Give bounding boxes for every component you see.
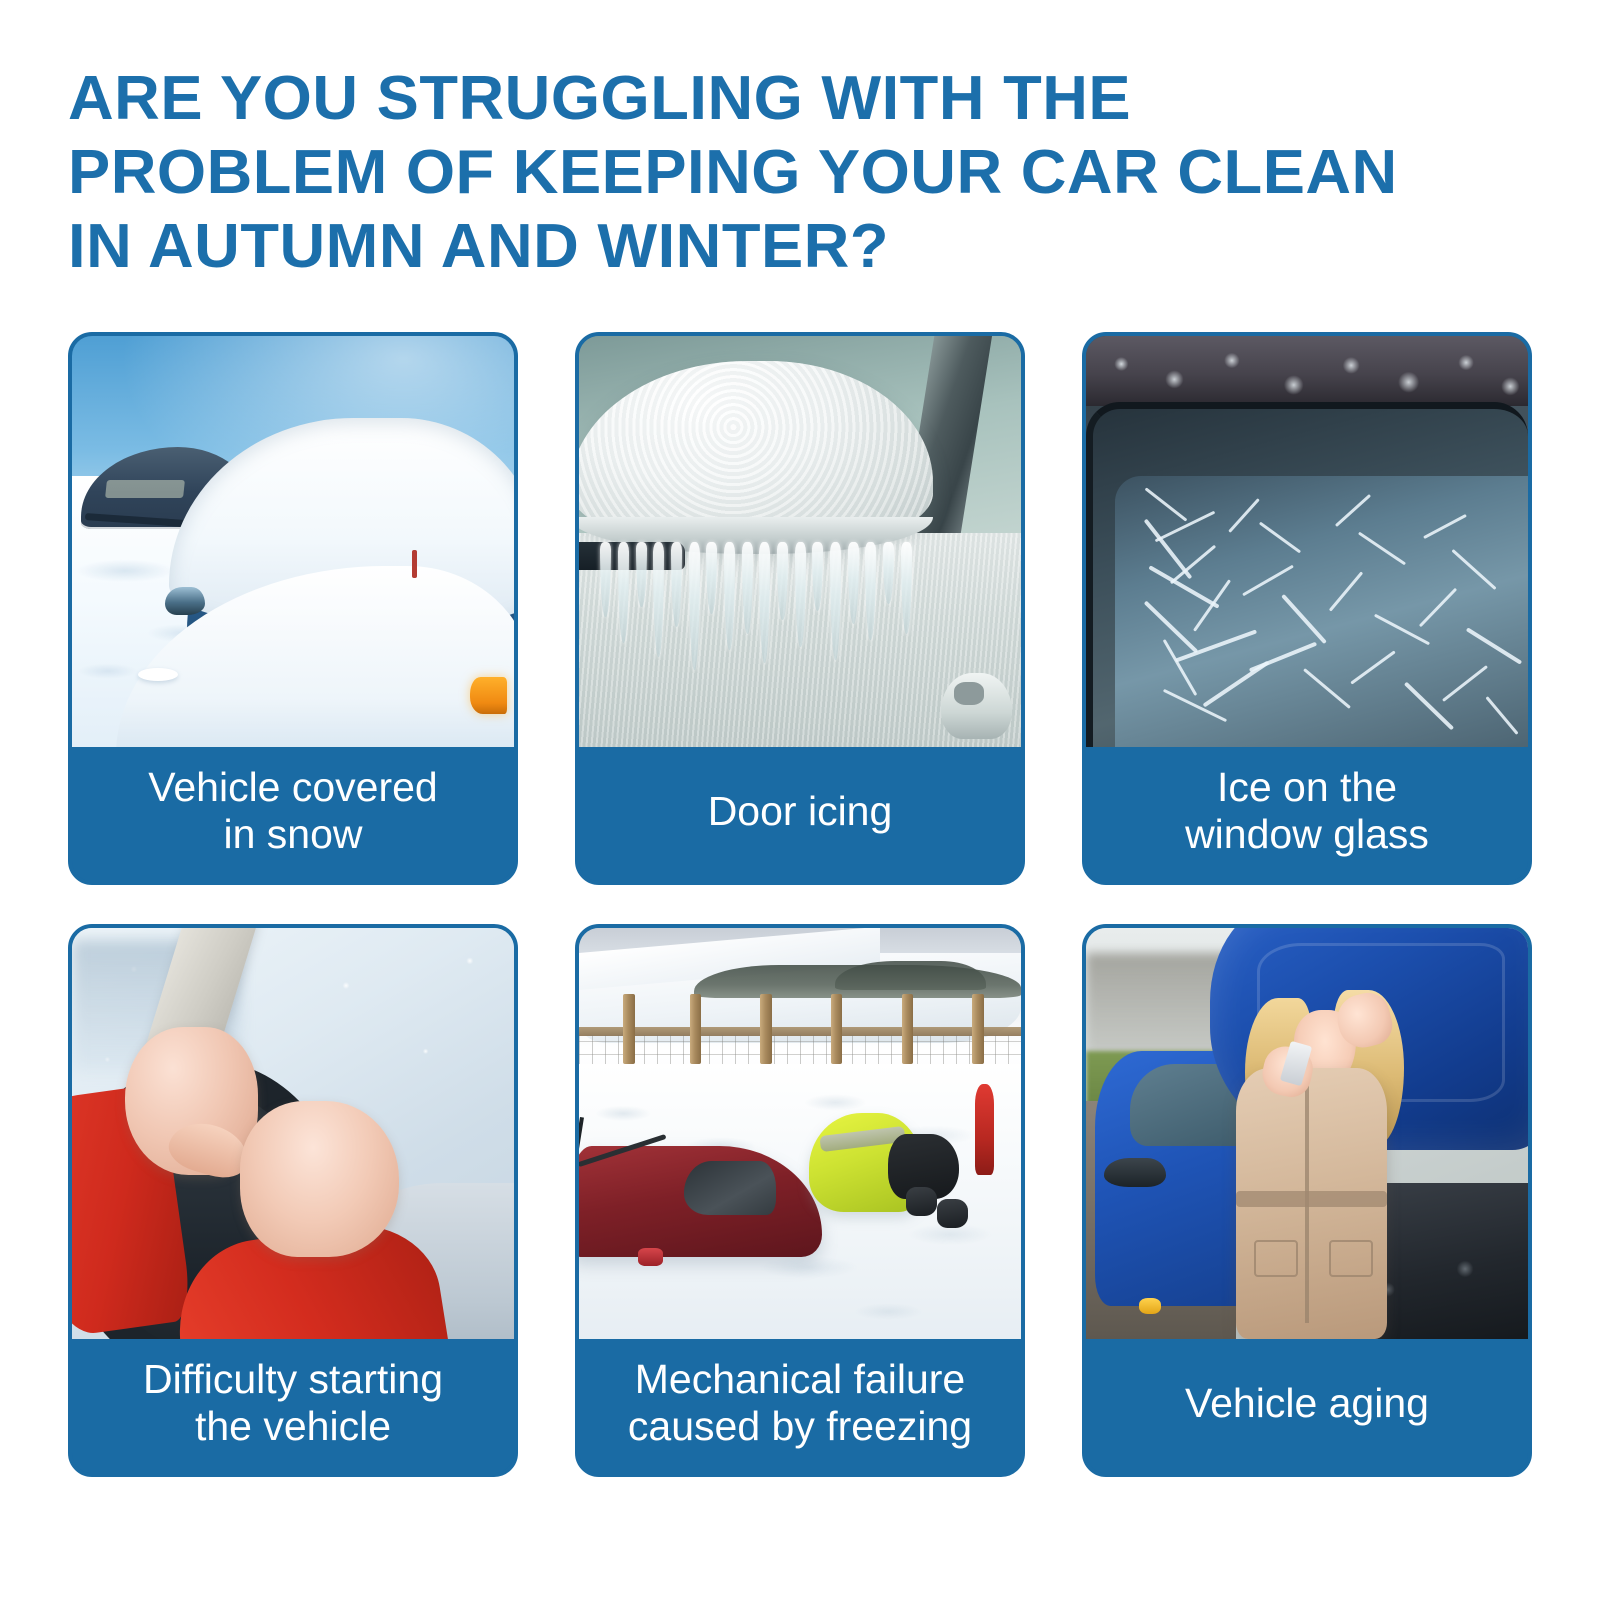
- card-caption: Ice on the window glass: [1086, 747, 1528, 881]
- coat-pocket-left: [1254, 1240, 1298, 1277]
- side-mirror-icon: [1104, 1158, 1166, 1187]
- tree-line-far: [835, 961, 985, 990]
- car-taillight: [638, 1248, 664, 1266]
- photo-mechanical-failure-freezing: [579, 928, 1021, 1339]
- card-caption: Difficulty starting the vehicle: [72, 1339, 514, 1473]
- card-vehicle-aging[interactable]: Vehicle aging: [1082, 924, 1532, 1477]
- photo-door-icing: [579, 336, 1021, 747]
- iced-door-handle: [941, 673, 1012, 739]
- photo-vehicle-aging: [1086, 928, 1528, 1339]
- photo-vehicle-covered-in-snow: [72, 336, 514, 747]
- coat-pocket-right: [1329, 1240, 1373, 1277]
- card-difficulty-starting-the-vehicle[interactable]: Difficulty starting the vehicle: [68, 924, 518, 1477]
- amber-taillight: [470, 677, 508, 714]
- frost-crystal-layer: [1115, 476, 1528, 747]
- hand-right: [240, 1101, 399, 1257]
- photo-ice-on-window-glass: [1086, 336, 1528, 747]
- card-caption: Vehicle aging: [1086, 1339, 1528, 1473]
- headlight: [1139, 1298, 1161, 1314]
- boot-right: [937, 1199, 968, 1228]
- headline-line-2: PROBLEM OF KEEPING YOUR CAR CLEAN: [68, 136, 1567, 210]
- red-snow-shovel: [975, 1084, 995, 1174]
- problem-card-grid: Vehicle covered in snow: [68, 332, 1532, 1477]
- icicle-row: [579, 542, 933, 706]
- card-mechanical-failure-caused-by-freezing[interactable]: Mechanical failure caused by freezing: [575, 924, 1025, 1477]
- fence-post: [831, 994, 842, 1064]
- fence-post: [902, 994, 913, 1064]
- card-caption: Vehicle covered in snow: [72, 747, 514, 881]
- headline-line-3: IN AUTUMN AND WINTER?: [68, 210, 1567, 284]
- card-caption: Door icing: [579, 747, 1021, 881]
- fence-post: [760, 994, 771, 1064]
- car-windshield: [684, 1161, 776, 1214]
- frosted-window-seal: [1086, 336, 1528, 406]
- page-title: ARE YOU STRUGGLING WITH THE PROBLEM OF K…: [68, 62, 1567, 284]
- boot-left: [906, 1187, 937, 1216]
- window-glass: [1115, 476, 1528, 747]
- fence-post: [623, 994, 634, 1064]
- card-caption: Mechanical failure caused by freezing: [579, 1339, 1021, 1473]
- fence-post: [690, 994, 701, 1064]
- side-mirror-icon: [165, 587, 205, 616]
- card-door-icing[interactable]: Door icing: [575, 332, 1025, 885]
- antenna: [412, 550, 417, 579]
- infographic-page: ARE YOU STRUGGLING WITH THE PROBLEM OF K…: [0, 0, 1600, 1600]
- card-vehicle-covered-in-snow[interactable]: Vehicle covered in snow: [68, 332, 518, 885]
- coat-belt: [1236, 1191, 1386, 1207]
- window-frame: [1086, 402, 1528, 747]
- fence-post: [972, 994, 983, 1064]
- headline-line-1: ARE YOU STRUGGLING WITH THE: [68, 62, 1567, 136]
- photo-difficulty-starting-vehicle: [72, 928, 514, 1339]
- card-ice-on-the-window-glass[interactable]: Ice on the window glass: [1082, 332, 1532, 885]
